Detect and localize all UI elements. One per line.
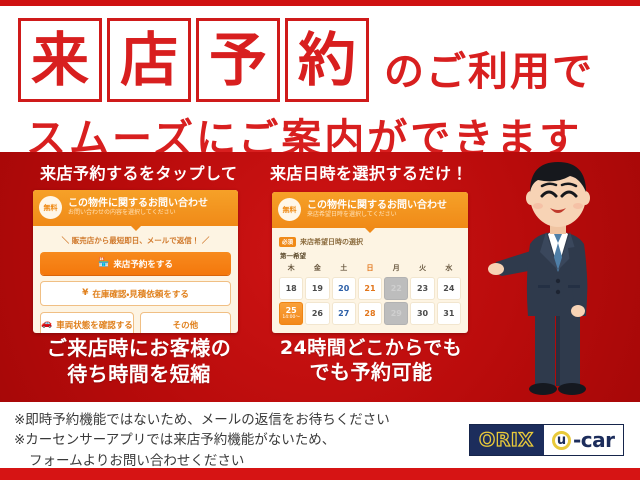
reserve-visit-label: 来店予約をする bbox=[113, 258, 173, 270]
other-button[interactable]: その他 bbox=[140, 312, 231, 333]
calendar-section-label: 必須 来店希望日時の選択 bbox=[279, 237, 461, 247]
card-body-left: ＼ 販売店から最短即日、メールで返信！ ／ 🏪 来店予約をする ¥ 在庫確認・見… bbox=[33, 226, 238, 333]
boxed-char-2: 店 bbox=[107, 18, 191, 102]
promo-banner: 来 店 予 約 のご利用で スムーズにご案内ができます 来店予約するをタップして… bbox=[0, 0, 640, 480]
calendar-week-2: 2514:00〜262728293031 bbox=[279, 302, 461, 325]
boxed-char-3: 予 bbox=[196, 18, 280, 102]
right-caption-line1: 24時間どこからでも bbox=[266, 336, 476, 360]
headline-area: 来 店 予 約 のご利用で スムーズにご案内ができます bbox=[0, 6, 640, 152]
left-caption: ご来店時にお客様の 待ち時間を短縮 bbox=[14, 336, 264, 387]
calendar-day-31[interactable]: 31 bbox=[437, 302, 461, 325]
calendar-day-number: 20 bbox=[338, 285, 349, 293]
left-caption-line1: ご来店時にお客様の bbox=[14, 336, 264, 362]
car-text: -car bbox=[573, 428, 615, 452]
card-header-left: 無料 この物件に関するお問い合わせ お問い合わせの内容を選択してください bbox=[33, 190, 238, 226]
preference-label: 第一希望 bbox=[280, 250, 461, 260]
dow-wed: 水 bbox=[437, 263, 461, 275]
dow-sun: 日 bbox=[358, 263, 382, 275]
calendar-day-22: 22 bbox=[384, 277, 408, 300]
dow-mon: 月 bbox=[384, 263, 408, 275]
section-label-text: 来店希望日時の選択 bbox=[300, 237, 363, 247]
right-panel-heading: 来店日時を選択するだけ！ bbox=[270, 160, 468, 184]
card-body-right: 必須 来店希望日時の選択 第一希望 木 金 土 日 月 火 水 18192021… bbox=[272, 228, 468, 332]
headline-tail: のご利用で bbox=[384, 23, 594, 97]
calendar-mock: 無料 この物件に関するお問い合わせ 来店希望日時を選択してください 必須 来店希… bbox=[272, 192, 468, 333]
boxed-char-4: 約 bbox=[285, 18, 369, 102]
calendar-day-number: 26 bbox=[312, 310, 323, 318]
calendar-day-18[interactable]: 18 bbox=[279, 277, 303, 300]
left-panel-heading: 来店予約するをタップして bbox=[40, 160, 238, 184]
calendar-day-number: 18 bbox=[286, 285, 297, 293]
vehicle-condition-button[interactable]: 🚗 車両状態を確認する bbox=[40, 312, 134, 333]
disclaimer-notes: ※即時予約機能ではないため、メールの返信をお待ちください ※カーセンサーアプリで… bbox=[14, 410, 464, 471]
dow-tue: 火 bbox=[410, 263, 434, 275]
calendar-day-number: 28 bbox=[364, 310, 375, 318]
calendar-week-1: 18192021222324 bbox=[279, 277, 461, 300]
calendar-day-number: 19 bbox=[312, 285, 323, 293]
ucar-wordmark: u -car bbox=[544, 425, 623, 455]
calendar-day-number: 25 bbox=[286, 307, 297, 315]
calendar-day-28[interactable]: 28 bbox=[358, 302, 382, 325]
car-icon: 🚗 bbox=[41, 320, 52, 329]
calendar-day-number: 21 bbox=[364, 285, 375, 293]
stock-quote-button[interactable]: ¥ 在庫確認・見積依頼をする bbox=[40, 281, 231, 306]
calendar-day-21[interactable]: 21 bbox=[358, 277, 382, 300]
stock-quote-label: 在庫確認・見積依頼をする bbox=[92, 288, 188, 300]
vehicle-condition-label: 車両状態を確認する bbox=[56, 319, 133, 331]
boxed-char-1: 来 bbox=[18, 18, 102, 102]
calendar-day-30[interactable]: 30 bbox=[410, 302, 434, 325]
free-badge-right: 無料 bbox=[278, 198, 301, 221]
calendar-day-number: 30 bbox=[417, 310, 428, 318]
calendar-day-time: 14:00〜 bbox=[282, 316, 299, 321]
free-badge-left: 無料 bbox=[39, 196, 62, 219]
required-chip: 必須 bbox=[279, 237, 296, 247]
calendar-day-27[interactable]: 27 bbox=[332, 302, 356, 325]
right-caption: 24時間どこからでも でも予約可能 bbox=[266, 336, 476, 386]
calendar-day-20[interactable]: 20 bbox=[332, 277, 356, 300]
orix-ucar-logo: ORIX u -car bbox=[469, 424, 624, 456]
header-notch-right bbox=[365, 228, 375, 233]
left-caption-line2: 待ち時間を短縮 bbox=[14, 362, 264, 388]
shop-icon: 🏪 bbox=[98, 259, 109, 268]
note-line-1: ※即時予約機能ではないため、メールの返信をお待ちください bbox=[14, 410, 464, 430]
other-label: その他 bbox=[173, 319, 199, 331]
calendar-day-29: 29 bbox=[384, 302, 408, 325]
calendar-day-25[interactable]: 2514:00〜 bbox=[279, 302, 303, 325]
dow-fri: 金 bbox=[305, 263, 329, 275]
card-subtitle-right: 来店希望日時を選択してください bbox=[307, 212, 447, 219]
boxed-kanji-row: 来 店 予 約 のご利用で bbox=[18, 18, 594, 102]
calendar-day-number: 23 bbox=[417, 285, 428, 293]
calendar-dow-row: 木 金 土 日 月 火 水 bbox=[279, 263, 461, 275]
yen-icon: ¥ bbox=[82, 289, 88, 298]
calendar-day-number: 22 bbox=[391, 285, 402, 293]
header-notch-left bbox=[131, 226, 141, 231]
dow-thu: 木 bbox=[279, 263, 303, 275]
bottom-red-rule bbox=[0, 468, 640, 480]
orix-wordmark: ORIX bbox=[470, 429, 542, 451]
calendar-day-number: 31 bbox=[443, 310, 454, 318]
calendar-day-number: 27 bbox=[338, 310, 349, 318]
calendar-day-number: 29 bbox=[391, 310, 402, 318]
calendar-day-24[interactable]: 24 bbox=[437, 277, 461, 300]
dow-sat: 土 bbox=[332, 263, 356, 275]
secondary-button-row: 🚗 車両状態を確認する その他 bbox=[40, 312, 231, 333]
card-header-right: 無料 この物件に関するお問い合わせ 来店希望日時を選択してください bbox=[272, 192, 468, 228]
inquiry-form-mock: 無料 この物件に関するお問い合わせ お問い合わせの内容を選択してください ＼ 販… bbox=[33, 190, 238, 333]
promo-line: ＼ 販売店から最短即日、メールで返信！ ／ bbox=[40, 235, 231, 246]
calendar-day-26[interactable]: 26 bbox=[305, 302, 329, 325]
calendar-day-number: 24 bbox=[443, 285, 454, 293]
calendar-day-23[interactable]: 23 bbox=[410, 277, 434, 300]
u-circle-icon: u bbox=[552, 431, 571, 450]
note-line-2: ※カーセンサーアプリでは来店予約機能がないため、 bbox=[14, 430, 464, 450]
reserve-visit-button[interactable]: 🏪 来店予約をする bbox=[40, 252, 231, 275]
calendar-day-19[interactable]: 19 bbox=[305, 277, 329, 300]
card-subtitle-left: お問い合わせの内容を選択してください bbox=[68, 210, 208, 217]
salesman-illustration bbox=[488, 148, 628, 402]
right-caption-line2: でも予約可能 bbox=[266, 360, 476, 386]
